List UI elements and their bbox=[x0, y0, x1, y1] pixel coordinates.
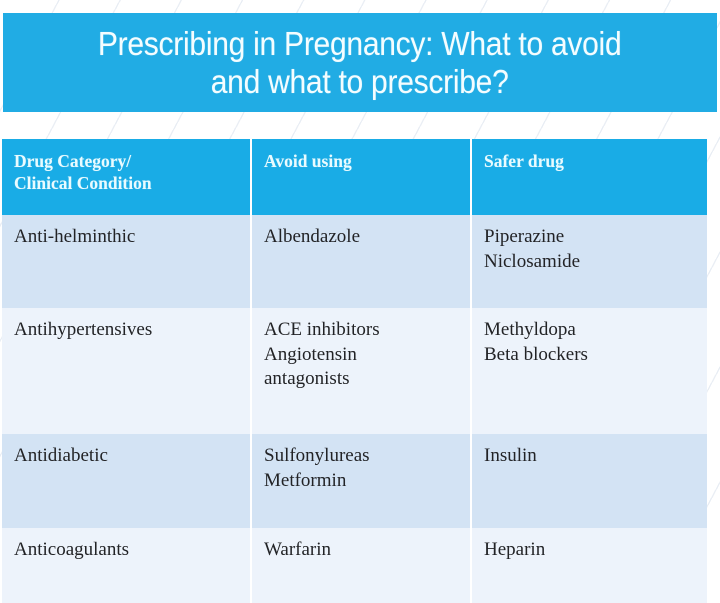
cell-drug-category: Anti-helminthic bbox=[2, 215, 251, 308]
cell-avoid-using: Albendazole bbox=[251, 215, 471, 308]
cell-safer-drug: Piperazine Niclosamide bbox=[471, 215, 707, 308]
table-row: Anti-helminthic Albendazole Piperazine N… bbox=[2, 215, 707, 308]
table-header-row: Drug Category/ Clinical Condition Avoid … bbox=[2, 139, 707, 215]
cell-safer-drug: Heparin bbox=[471, 528, 707, 603]
table-row: Antihypertensives ACE inhibitors Angiote… bbox=[2, 308, 707, 434]
column-header-drug-category: Drug Category/ Clinical Condition bbox=[2, 139, 251, 215]
slide-title: Prescribing in Pregnancy: What to avoid … bbox=[98, 25, 621, 100]
slide-background: Prescribing in Pregnancy: What to avoid … bbox=[0, 0, 720, 539]
column-header-safer-drug: Safer drug bbox=[471, 139, 707, 215]
cell-safer-drug: Methyldopa Beta blockers bbox=[471, 308, 707, 434]
drug-safety-table: Drug Category/ Clinical Condition Avoid … bbox=[2, 139, 707, 603]
table-row: Antidiabetic Sulfonylureas Metformin Ins… bbox=[2, 434, 707, 528]
cell-drug-category: Antihypertensives bbox=[2, 308, 251, 434]
cell-safer-drug: Insulin bbox=[471, 434, 707, 528]
table-row: Anticoagulants Warfarin Heparin bbox=[2, 528, 707, 603]
column-header-avoid-using: Avoid using bbox=[251, 139, 471, 215]
cell-drug-category: Anticoagulants bbox=[2, 528, 251, 603]
title-banner: Prescribing in Pregnancy: What to avoid … bbox=[3, 13, 717, 112]
cell-avoid-using: Sulfonylureas Metformin bbox=[251, 434, 471, 528]
cell-avoid-using: Warfarin bbox=[251, 528, 471, 603]
cell-drug-category: Antidiabetic bbox=[2, 434, 251, 528]
cell-avoid-using: ACE inhibitors Angiotensin antagonists bbox=[251, 308, 471, 434]
